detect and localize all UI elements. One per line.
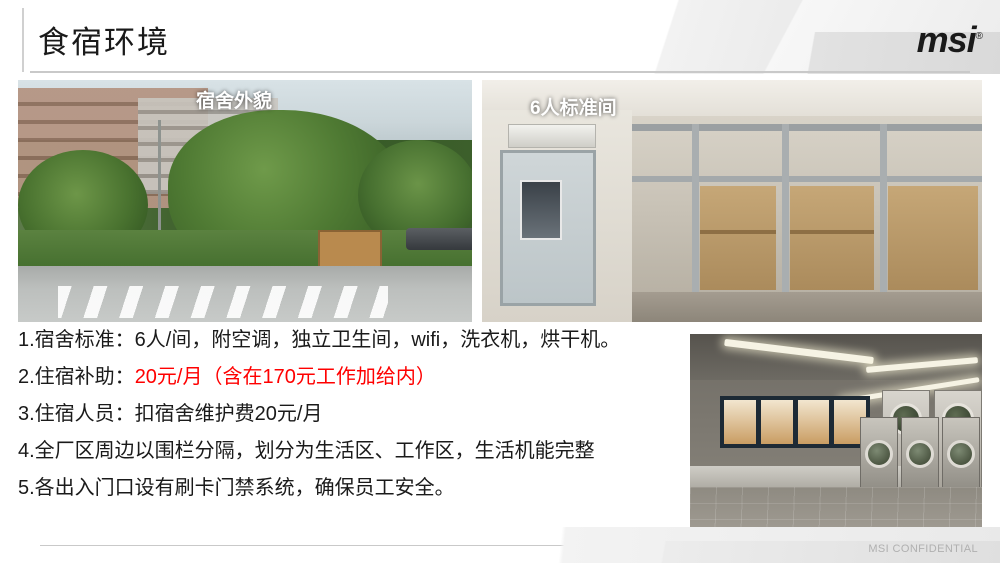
- parked-car-b: [450, 228, 472, 250]
- msi-logo: msi®: [917, 22, 982, 58]
- mid-guard-rail: [632, 176, 982, 182]
- confidential-label: MSI CONFIDENTIAL: [868, 543, 978, 555]
- board-panel-3: [798, 400, 830, 444]
- wardrobe-a: [700, 186, 776, 290]
- bullet-item-1: 1.宿舍标准：6人/间，附空调，独立卫生间，wifi，洗衣机，烘干机。: [18, 330, 708, 350]
- notice-board: [720, 396, 870, 448]
- wardrobe-b: [790, 186, 874, 290]
- board-panel-1: [724, 400, 756, 444]
- washer-row: [860, 417, 980, 493]
- washer-door-icon: [947, 440, 975, 468]
- slide: 食宿环境 msi® 宿舍外貌: [0, 0, 1000, 563]
- washer-unit-c: [942, 417, 980, 493]
- header-divider: [30, 71, 970, 73]
- registered-mark-icon: ®: [976, 31, 982, 42]
- slide-header: 食宿环境 msi®: [0, 0, 1000, 74]
- shelf-a: [700, 230, 776, 234]
- photo-laundry-room: [690, 334, 982, 539]
- bullet-2-highlight: 20元/月（含在170元工作加给内）: [135, 366, 436, 388]
- board-panel-2: [761, 400, 793, 444]
- header-vertical-rule: [22, 8, 24, 72]
- bullet-item-4: 4.全厂区周边以围栏分隔，划分为生活区、工作区，生活机能完整: [18, 441, 708, 461]
- washer-door-icon: [906, 440, 934, 468]
- washer-unit-a: [860, 417, 898, 493]
- caption-dormitory-exterior: 宿舍外貌: [196, 86, 272, 113]
- caption-six-person-room: 6人标准间: [530, 93, 617, 120]
- page-title: 食宿环境: [38, 17, 170, 62]
- room-floor: [632, 292, 982, 322]
- washer-door-icon: [865, 440, 893, 468]
- bullet-list: 1.宿舍标准：6人/间，附空调，独立卫生间，wifi，洗衣机，烘干机。 2.住宿…: [18, 330, 708, 515]
- wardrobe-c: [888, 186, 978, 290]
- bullet-item-3: 3.住宿人员：扣宿舍维护费20元/月: [18, 404, 708, 424]
- wall-poster: [520, 180, 562, 240]
- parked-car-a: [406, 228, 456, 250]
- upper-guard-rail: [632, 124, 982, 131]
- crosswalk-stripes: [58, 286, 388, 318]
- shelf-b: [790, 230, 874, 234]
- msi-logo-text: msi: [917, 19, 976, 60]
- air-conditioner-unit: [508, 124, 596, 148]
- bullet-2-prefix: 2.住宿补助：: [18, 366, 135, 388]
- photo-dormitory-exterior: [18, 80, 472, 322]
- washer-unit-b: [901, 417, 939, 493]
- bullet-item-5: 5.各出入门口设有刷卡门禁系统，确保员工安全。: [18, 478, 708, 498]
- bullet-item-2: 2.住宿补助：20元/月（含在170元工作加给内）: [18, 367, 708, 387]
